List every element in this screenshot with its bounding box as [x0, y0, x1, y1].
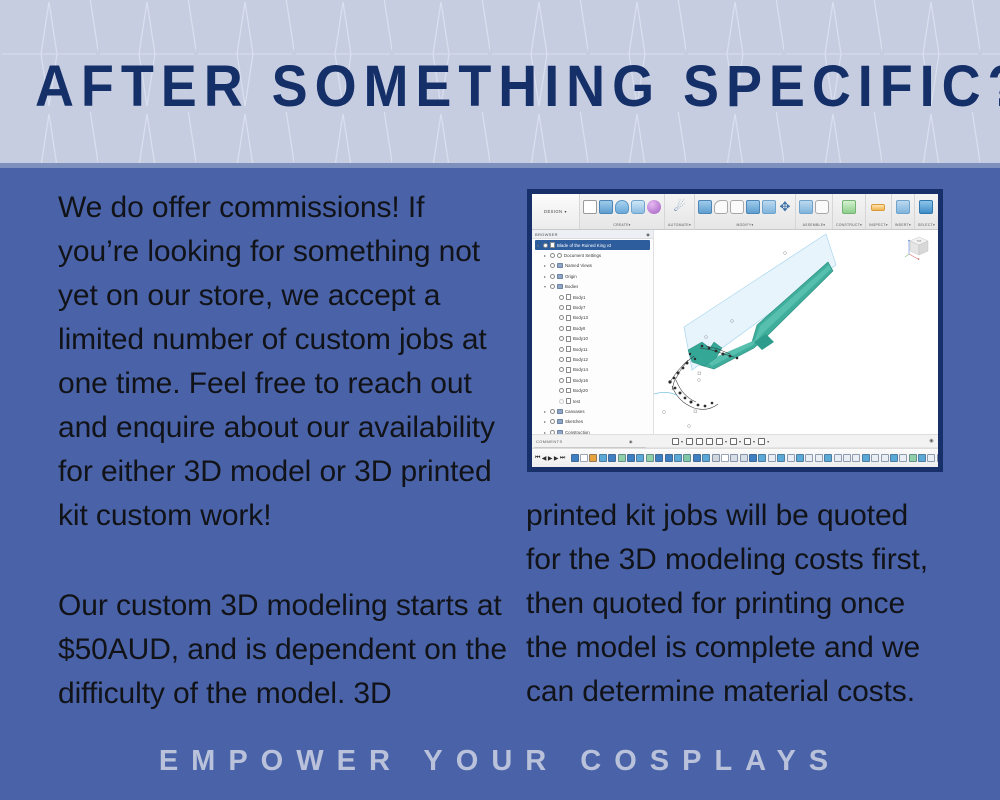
tree-node-label: Bodies [565, 284, 578, 289]
tree-node-label: Body1 [573, 295, 585, 300]
tree-node[interactable]: Body12 [532, 354, 653, 364]
timeline-feature-icon[interactable] [599, 454, 607, 462]
visibility-eye-icon[interactable] [559, 347, 564, 352]
ribbon-group-select: SELECT▾ [915, 194, 938, 229]
body-icon [566, 388, 571, 394]
ribbon-group-automate: ☄ AUTOMATE▾ [665, 194, 695, 229]
chevron-down-icon: ▾ [564, 209, 567, 214]
header-divider-rule [0, 163, 1000, 168]
look-at-icon[interactable] [716, 438, 723, 445]
chevron-down-icon: ▾ [860, 223, 862, 227]
visibility-eye-icon[interactable] [559, 357, 564, 362]
visibility-eye-icon[interactable] [559, 399, 564, 404]
chevron-right-icon[interactable]: ▸ [544, 409, 548, 414]
visibility-eye-icon[interactable] [559, 315, 564, 320]
timeline-feature-icon[interactable] [890, 454, 898, 462]
timeline-feature-icon[interactable] [768, 454, 776, 462]
press-pull-icon[interactable] [698, 200, 712, 214]
tree-node[interactable]: ▸Named Views [532, 261, 653, 271]
ribbon-group-inspect: INSPECT▾ [866, 194, 892, 229]
timeline-feature-icon[interactable] [665, 454, 673, 462]
step-forward-icon[interactable]: ▶ [554, 455, 559, 462]
chevron-right-icon[interactable]: ▸ [544, 419, 548, 424]
visibility-eye-icon[interactable] [550, 263, 555, 268]
fusion360-window: DESIGN ▾ CREATE▾ ☄ [532, 194, 938, 467]
chevron-right-icon[interactable]: ▸ [544, 274, 548, 279]
tree-node[interactable]: Body1 [532, 292, 653, 302]
tree-node-label: Body13 [573, 315, 588, 320]
draft-icon[interactable] [762, 200, 776, 214]
extrude-icon[interactable] [599, 200, 613, 214]
timeline-feature-icon[interactable] [636, 454, 644, 462]
comments-label: COMMENTS [536, 439, 563, 444]
paragraph-commissions: We do offer commissions! If you’re looki… [58, 186, 508, 538]
tree-node-label: Canvases [565, 409, 585, 414]
workspace-switcher-design[interactable]: DESIGN ▾ [532, 194, 580, 229]
chevron-down-icon[interactable]: ▾ [739, 439, 741, 444]
tree-node[interactable]: Body14 [532, 365, 653, 375]
tree-node-label: Body20 [573, 388, 588, 393]
tree-node-label: Document Settings [564, 253, 601, 258]
timeline-feature-icon[interactable] [918, 454, 926, 462]
tree-node-label: Blade of the Ruined King v3 [557, 243, 611, 248]
tree-node-label: Body7 [573, 305, 585, 310]
chevron-right-icon[interactable]: ▸ [544, 263, 548, 268]
ribbon-group-label: ASSEMBLE [803, 223, 824, 227]
timeline-feature-icon[interactable] [777, 454, 785, 462]
ribbon-group-label: INSERT [895, 223, 909, 227]
chevron-down-icon: ▾ [909, 223, 911, 227]
tree-node-label: Origin [565, 274, 577, 279]
timeline-feature-icon[interactable] [871, 454, 879, 462]
chevron-down-icon: ▾ [823, 223, 825, 227]
body-icon [566, 357, 571, 363]
select-cursor-icon[interactable] [919, 200, 933, 214]
timeline-feature-icon[interactable] [730, 454, 738, 462]
folder-icon [557, 274, 563, 279]
body-icon [566, 326, 571, 332]
search-icon[interactable]: ◉ [929, 438, 934, 444]
tree-node-label: Sketches [565, 419, 583, 424]
tree-node-label: Body16 [573, 378, 588, 383]
timeline-feature-icon[interactable] [843, 454, 851, 462]
timeline-feature-icon[interactable] [796, 454, 804, 462]
tree-node-label: Body12 [573, 357, 588, 362]
body-icon [566, 346, 571, 352]
tree-node-label: Body9 [573, 326, 585, 331]
timeline-feature-icon[interactable] [740, 454, 748, 462]
cad-screenshot-embed: DESIGN ▾ CREATE▾ ☄ [527, 189, 943, 472]
ribbon-toolbar: DESIGN ▾ CREATE▾ ☄ [532, 194, 938, 230]
chevron-down-icon: ▾ [886, 223, 888, 227]
timeline-feature-icon[interactable] [824, 454, 832, 462]
body-icon [566, 305, 571, 311]
browser-options-icon[interactable]: ◉ [646, 232, 650, 237]
tree-node[interactable]: ▸Sketches [532, 417, 653, 427]
cad-main-area: BROWSER ◉ ▾ Blade of the Ruined King v3 … [532, 230, 938, 434]
folder-icon [557, 409, 563, 414]
chevron-down-icon[interactable]: ▾ [681, 439, 683, 444]
visibility-eye-icon[interactable] [559, 378, 564, 383]
timeline-feature-icon[interactable] [608, 454, 616, 462]
visibility-eye-icon[interactable] [559, 295, 564, 300]
component-icon [550, 242, 555, 248]
timeline-feature-list [571, 454, 943, 462]
sweep-icon[interactable] [631, 200, 645, 214]
timeline-feature-icon[interactable] [655, 454, 663, 462]
timeline-feature-icon[interactable] [758, 454, 766, 462]
timeline-feature-icon[interactable] [589, 454, 597, 462]
ribbon-group-label: CREATE [613, 223, 628, 227]
timeline-feature-icon[interactable] [693, 454, 701, 462]
chamfer-icon[interactable] [730, 200, 744, 214]
tree-node-label: test [573, 399, 580, 404]
timeline-feature-icon[interactable] [674, 454, 682, 462]
chevron-down-icon[interactable]: ▾ [537, 243, 541, 248]
offset-plane-icon[interactable] [842, 200, 856, 214]
browser-panel-header: BROWSER ◉ [532, 230, 653, 239]
viewports-icon[interactable] [758, 438, 765, 445]
body-icon [566, 336, 571, 342]
visibility-eye-icon[interactable] [559, 336, 564, 341]
chevron-down-icon: ▾ [689, 223, 691, 227]
chevron-down-icon[interactable]: ▾ [767, 439, 769, 444]
zoom-icon[interactable] [696, 438, 703, 445]
tree-node[interactable]: test [532, 396, 653, 406]
visibility-eye-icon[interactable] [559, 305, 564, 310]
visibility-eye-icon[interactable] [559, 367, 564, 372]
shell-icon[interactable] [746, 200, 760, 214]
ribbon-group-modify: ✥ MODIFY▾ [695, 194, 796, 229]
timeline-feature-icon[interactable] [862, 454, 870, 462]
paragraph-pricing: Our custom 3D modeling starts at $50AUD,… [58, 584, 508, 716]
visibility-eye-icon[interactable] [550, 284, 555, 289]
comments-options-icon[interactable]: ◉ [629, 439, 633, 444]
timeline-feature-icon[interactable] [721, 454, 729, 462]
timeline-feature-icon[interactable] [815, 454, 823, 462]
timeline-feature-icon[interactable] [909, 454, 917, 462]
ribbon-group-insert: INSERT▾ [892, 194, 915, 229]
visibility-eye-icon[interactable] [550, 419, 555, 424]
folder-icon [557, 263, 563, 268]
timeline-feature-icon[interactable] [805, 454, 813, 462]
timeline-feature-icon[interactable] [702, 454, 710, 462]
visibility-eye-icon[interactable] [543, 243, 548, 248]
play-icon[interactable]: ▶ [548, 455, 553, 462]
timeline-feature-icon[interactable] [618, 454, 626, 462]
tree-node[interactable]: Body10 [532, 334, 653, 344]
timeline-feature-icon[interactable] [749, 454, 757, 462]
browser-panel[interactable]: BROWSER ◉ ▾ Blade of the Ruined King v3 … [532, 230, 654, 434]
timeline-feature-icon[interactable] [834, 454, 842, 462]
timeline-feature-icon[interactable] [683, 454, 691, 462]
timeline-feature-icon[interactable] [852, 454, 860, 462]
ribbon-group-label: SELECT [918, 223, 933, 227]
chevron-right-icon[interactable]: ▸ [544, 253, 548, 258]
new-component-icon[interactable] [799, 200, 813, 214]
ribbon-group-assemble: ASSEMBLE▾ [796, 194, 833, 229]
body-icon [566, 367, 571, 373]
timeline-feature-icon[interactable] [712, 454, 720, 462]
folder-icon [557, 419, 563, 424]
chevron-down-icon: ▾ [933, 223, 935, 227]
view-navigation-bar[interactable]: ▾ ▾ ▾ ▾ ▾ [672, 436, 812, 447]
joint-icon[interactable] [815, 200, 829, 214]
visibility-eye-icon[interactable] [550, 253, 555, 258]
timeline-feature-icon[interactable] [881, 454, 889, 462]
grid-settings-icon[interactable] [744, 438, 751, 445]
chevron-down-icon: ▾ [629, 223, 631, 227]
tree-node[interactable]: Body13 [532, 313, 653, 323]
chevron-down-icon[interactable]: ▾ [544, 284, 548, 289]
jump-start-icon[interactable]: ⏮ [535, 455, 540, 462]
timeline-feature-icon[interactable] [571, 454, 579, 462]
ribbon-group-label: AUTOMATE [668, 223, 689, 227]
visibility-eye-icon[interactable] [559, 326, 564, 331]
folder-icon [557, 284, 563, 289]
tree-node[interactable]: Body20 [532, 385, 653, 395]
timeline-feature-icon[interactable] [927, 454, 935, 462]
ribbon-group-label: INSPECT [869, 223, 886, 227]
timeline-feature-icon[interactable] [787, 454, 795, 462]
timeline-feature-icon[interactable] [580, 454, 588, 462]
ribbon-group-label: MODIFY [736, 223, 751, 227]
tree-node-label: Body10 [573, 336, 588, 341]
browser-tree-list: ▸Document Settings▸Named Views▸Origin▾Bo… [532, 250, 653, 434]
page-title: AFTER SOMETHING SPECIFIC? [35, 56, 965, 118]
insert-mcmaster-icon[interactable] [896, 200, 910, 214]
chevron-down-icon: ▾ [751, 223, 753, 227]
tree-node[interactable]: ▸Canvases [532, 406, 653, 416]
move-copy-icon[interactable]: ✥ [778, 200, 792, 214]
viewcube[interactable]: TOP [904, 234, 930, 262]
tree-node-root[interactable]: ▾ Blade of the Ruined King v3 [535, 240, 650, 250]
header-band: AFTER SOMETHING SPECIFIC? [0, 0, 1000, 168]
tree-node-label: Named Views [565, 263, 592, 268]
cad-lower-bar: COMMENTS ◉ ◉ ▾ ▾ ▾ ▾ ▾ ⏮ ◀ [532, 434, 938, 467]
tree-node[interactable]: Body7 [532, 302, 653, 312]
timeline-feature-icon[interactable] [646, 454, 654, 462]
body-icon [566, 294, 571, 300]
pan-icon[interactable] [686, 438, 693, 445]
design-timeline[interactable]: ⏮ ◀ ▶ ▶ ⏭ [532, 448, 938, 467]
footer-tagline: EMPOWER YOUR COSPLAYS [0, 736, 1000, 786]
visibility-eye-icon[interactable] [550, 409, 555, 414]
tree-node[interactable]: ▸Document Settings [532, 250, 653, 260]
tree-node[interactable]: ▾Bodies [532, 282, 653, 292]
fit-icon[interactable] [706, 438, 713, 445]
tree-node-label: Body14 [573, 367, 588, 372]
workspace-label: DESIGN [544, 209, 562, 214]
visibility-eye-icon[interactable] [550, 274, 555, 279]
loft-icon[interactable] [647, 200, 661, 214]
browser-panel-label: BROWSER [535, 232, 558, 237]
visibility-eye-icon[interactable] [559, 388, 564, 393]
body-icon [566, 398, 571, 404]
display-settings-icon[interactable] [730, 438, 737, 445]
revolve-icon[interactable] [615, 200, 629, 214]
tree-node[interactable]: Body9 [532, 323, 653, 333]
tree-node[interactable]: Body11 [532, 344, 653, 354]
svg-text:TOP: TOP [917, 241, 922, 243]
body-icon [566, 377, 571, 383]
ribbon-group-create: CREATE▾ [580, 194, 665, 229]
orbit-icon[interactable] [672, 438, 679, 445]
automate-icon[interactable]: ☄ [672, 200, 686, 214]
jump-end-icon[interactable]: ⏭ [560, 455, 565, 462]
sword-model-render [654, 230, 938, 434]
tree-node[interactable]: ▸Construction [532, 427, 653, 434]
chevron-down-icon[interactable]: ▾ [753, 439, 755, 444]
measure-icon[interactable] [871, 204, 885, 211]
sketch-icon[interactable] [583, 200, 597, 214]
gear-icon [557, 253, 562, 258]
timeline-feature-icon[interactable] [627, 454, 635, 462]
tree-node[interactable]: Body16 [532, 375, 653, 385]
chevron-down-icon[interactable]: ▾ [725, 439, 727, 444]
viewport-3d[interactable]: TOP [654, 230, 938, 434]
step-back-icon[interactable]: ◀ [542, 455, 547, 462]
poster-canvas: AFTER SOMETHING SPECIFIC? We do offer co… [0, 0, 1000, 800]
timeline-feature-icon[interactable] [899, 454, 907, 462]
paragraph-quoting: printed kit jobs will be quoted for the … [526, 494, 946, 714]
ribbon-group-construct: CONSTRUCT▾ [833, 194, 866, 229]
ribbon-group-label: CONSTRUCT [836, 223, 860, 227]
tree-node[interactable]: ▸Origin [532, 271, 653, 281]
fillet-icon[interactable] [714, 200, 728, 214]
body-icon [566, 315, 571, 321]
timeline-feature-icon[interactable] [937, 454, 943, 462]
tree-node-label: Body11 [573, 347, 588, 352]
